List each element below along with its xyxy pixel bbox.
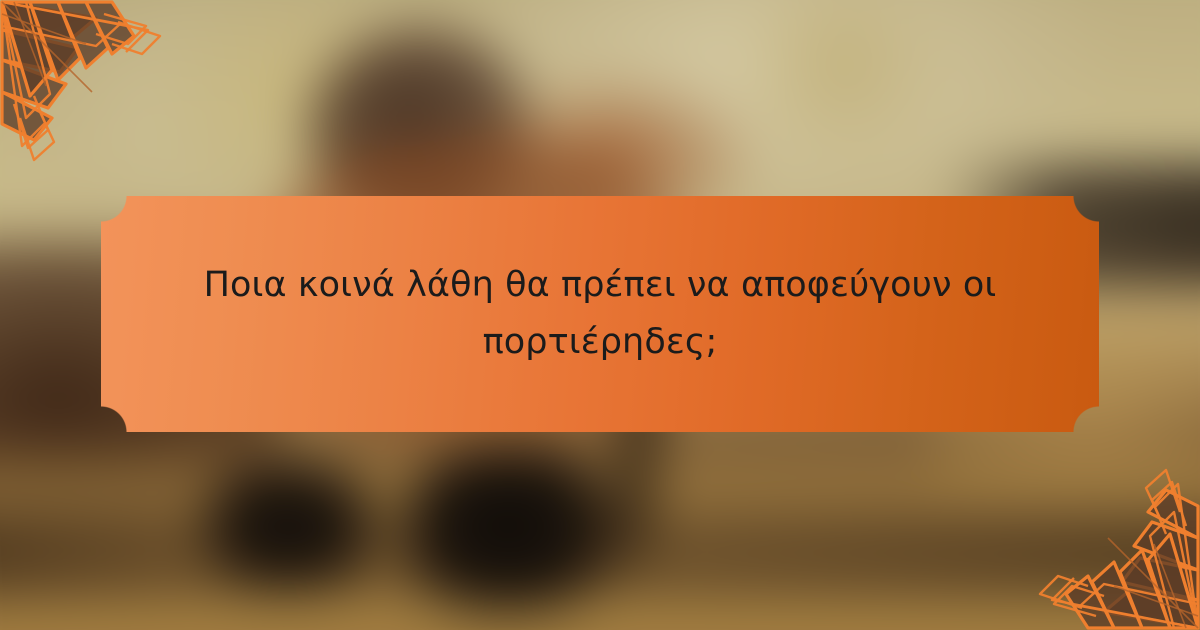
quote-card-canvas: Ποια κοινά λάθη θα πρέπει να αποφεύγουν … [0,0,1200,630]
background-wall-art-b [732,0,943,165]
quote-card: Ποια κοινά λάθη θα πρέπει να αποφεύγουν … [101,196,1099,432]
background-boot-right [402,450,613,615]
quote-text: Ποια κοινά λάθη θα πρέπει να αποφεύγουν … [195,257,1005,370]
background-boot-left [204,465,376,593]
